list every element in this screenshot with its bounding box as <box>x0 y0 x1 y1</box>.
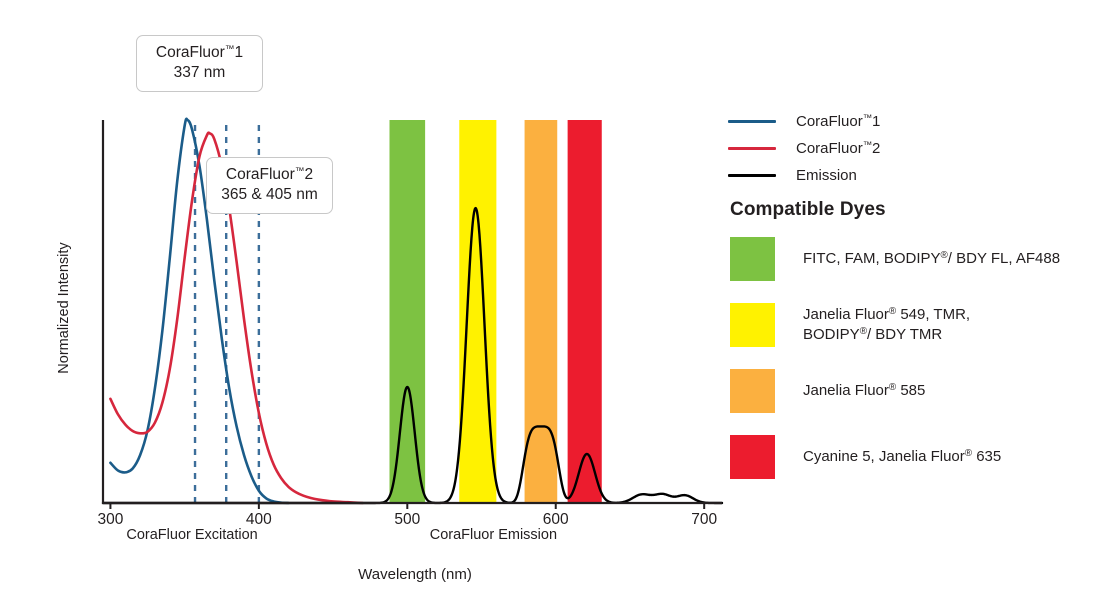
dye-row-green: FITC, FAM, BODIPY®/ BDY FL, AF488 <box>730 234 1110 284</box>
dye-yellow-line2: BODIPY®/ BDY TMR <box>803 325 970 345</box>
callout-cf2-title: CoraFluor™2 <box>226 166 313 183</box>
series-legend: CoraFluor™1 CoraFluor™2 Emission <box>728 108 1098 189</box>
dye-row-yellow: Janelia Fluor® 549, TMR, BODIPY®/ BDY TM… <box>730 300 1110 350</box>
callout-coraFluor-1: CoraFluor™1 337 nm <box>136 35 263 92</box>
dye-row-orange: Janelia Fluor® 585 <box>730 366 1110 416</box>
compatible-dyes-heading: Compatible Dyes <box>730 199 886 221</box>
legend-line-swatch-emission <box>728 174 776 177</box>
red-band <box>568 120 602 503</box>
dye-green-line1: FITC, FAM, BODIPY®/ BDY FL, AF488 <box>803 250 1060 267</box>
dye-orange-line1: Janelia Fluor® 585 <box>803 382 925 399</box>
green-band <box>389 120 425 503</box>
legend-item-coraFluor-1: CoraFluor™1 <box>728 108 1098 135</box>
axis-sublabel-excitation: CoraFluor Excitation <box>82 527 302 543</box>
dye-label-yellow: Janelia Fluor® 549, TMR, BODIPY®/ BDY TM… <box>803 305 970 345</box>
dye-color-swatch-red <box>730 435 775 479</box>
callout-cf1-title: CoraFluor™1 <box>156 44 243 61</box>
x-axis-label: Wavelength (nm) <box>0 566 830 583</box>
dye-label-orange: Janelia Fluor® 585 <box>803 381 925 401</box>
dye-label-red: Cyanine 5, Janelia Fluor® 635 <box>803 447 1001 467</box>
legend-line-swatch-coraFluor-2 <box>728 147 776 150</box>
dye-red-line1: Cyanine 5, Janelia Fluor® 635 <box>803 448 1001 465</box>
x-tick-label-300: 300 <box>80 511 140 529</box>
x-tick-label-600: 600 <box>526 511 586 529</box>
legend-label-coraFluor-2: CoraFluor™2 <box>796 140 880 157</box>
legend-item-coraFluor-2: CoraFluor™2 <box>728 135 1098 162</box>
dye-color-swatch-green <box>730 237 775 281</box>
x-tick-label-700: 700 <box>674 511 734 529</box>
y-axis-label: Normalized Intensity <box>56 208 72 408</box>
dye-color-swatch-orange <box>730 369 775 413</box>
dye-yellow-line1: Janelia Fluor® 549, TMR, <box>803 306 970 323</box>
x-tick-label-400: 400 <box>229 511 289 529</box>
legend-line-swatch-coraFluor-1 <box>728 120 776 123</box>
callout-coraFluor-2: CoraFluor™2 365 & 405 nm <box>206 157 333 214</box>
fluorescence-spectra-figure: CoraFluor™1 337 nm CoraFluor™2 365 & 405… <box>0 0 1110 612</box>
dye-label-green: FITC, FAM, BODIPY®/ BDY FL, AF488 <box>803 249 1060 269</box>
dye-row-red: Cyanine 5, Janelia Fluor® 635 <box>730 432 1110 482</box>
callout-cf2-value: 365 & 405 nm <box>219 185 320 205</box>
axis-sublabel-emission: CoraFluor Emission <box>383 527 603 543</box>
callout-cf1-value: 337 nm <box>149 63 250 83</box>
legend-item-emission: Emission <box>728 162 1098 189</box>
legend-label-coraFluor-1: CoraFluor™1 <box>796 113 880 130</box>
orange-band <box>525 120 558 503</box>
dye-color-swatch-yellow <box>730 303 775 347</box>
legend-label-emission: Emission <box>796 167 857 184</box>
compatible-dyes-list: FITC, FAM, BODIPY®/ BDY FL, AF488 Janeli… <box>730 234 1110 498</box>
x-tick-label-500: 500 <box>377 511 437 529</box>
